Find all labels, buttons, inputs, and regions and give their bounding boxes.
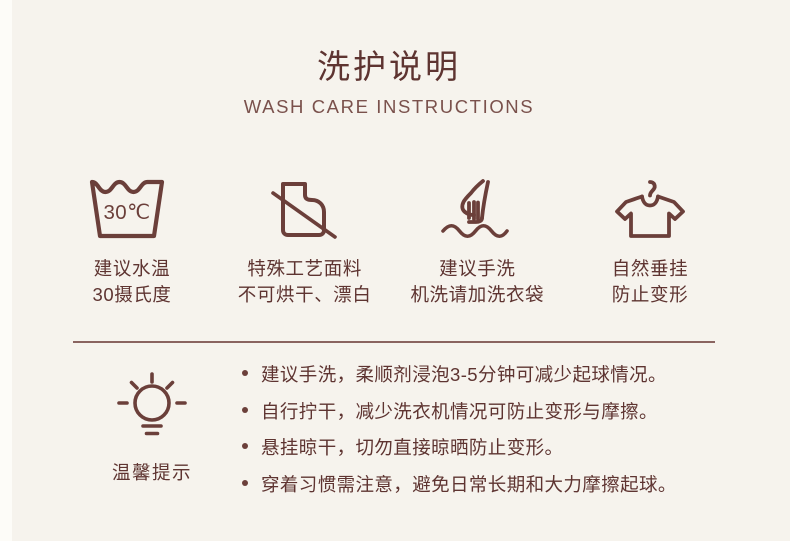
tips-header: 温馨提示 — [62, 366, 242, 485]
bullet-icon — [242, 370, 248, 376]
svg-text:30℃: 30℃ — [103, 201, 150, 224]
tip-text: 穿着习惯需注意，避免日常长期和大力摩擦起球。 — [261, 476, 677, 495]
page-header: 洗护说明 WASH CARE INSTRUCTIONS — [0, 46, 778, 118]
care-item-caption-line1: 特殊工艺面料 — [238, 256, 372, 282]
care-item-caption-line2: 防止变形 — [612, 282, 688, 308]
care-item-caption: 特殊工艺面料 不可烘干、漂白 — [238, 256, 372, 309]
page-title: 洗护说明 — [0, 46, 778, 87]
page-subtitle: WASH CARE INSTRUCTIONS — [0, 96, 778, 118]
hand-wash-icon — [431, 172, 523, 246]
list-item: 自行拧干，减少洗衣机情况可防止变形与摩擦。 — [242, 403, 677, 422]
tip-text: 建议手洗，柔顺剂浸泡3-5分钟可减少起球情况。 — [261, 366, 667, 385]
tips-section: 温馨提示 建议手洗，柔顺剂浸泡3-5分钟可减少起球情况。 自行拧干，减少洗衣机情… — [62, 366, 762, 512]
care-item-caption-line1: 建议手洗 — [410, 256, 544, 282]
tips-caption: 温馨提示 — [112, 459, 192, 485]
hang-dry-shirt-icon — [604, 172, 696, 246]
list-item: 建议手洗，柔顺剂浸泡3-5分钟可减少起球情况。 — [242, 366, 677, 385]
lightbulb-icon — [111, 370, 193, 447]
care-item-caption: 自然垂挂 防止变形 — [612, 256, 688, 309]
care-item-caption-line1: 自然垂挂 — [612, 256, 688, 282]
care-item-hang-dry: 自然垂挂 防止变形 — [564, 172, 736, 309]
care-item-caption: 建议水温 30摄氏度 — [92, 256, 171, 309]
care-item-no-tumble-dry-bleach: 特殊工艺面料 不可烘干、漂白 — [219, 172, 391, 309]
care-item-caption: 建议手洗 机洗请加洗衣袋 — [410, 256, 544, 309]
wash-tub-30c-icon: 30℃ — [86, 172, 178, 246]
section-divider — [73, 341, 715, 343]
list-item: 穿着习惯需注意，避免日常长期和大力摩擦起球。 — [242, 476, 677, 495]
list-item: 悬挂晾干，切勿直接晾晒防止变形。 — [242, 439, 677, 458]
wash-care-page: 洗护说明 WASH CARE INSTRUCTIONS 30℃ 建议水温 30摄… — [0, 0, 790, 541]
tips-list: 建议手洗，柔顺剂浸泡3-5分钟可减少起球情况。 自行拧干，减少洗衣机情况可防止变… — [242, 366, 677, 512]
bullet-icon — [242, 443, 248, 449]
bullet-icon — [242, 480, 248, 486]
no-tumble-dry-no-bleach-icon — [259, 172, 351, 246]
care-item-caption-line2: 不可烘干、漂白 — [238, 282, 372, 308]
care-item-caption-line1: 建议水温 — [92, 256, 171, 282]
care-item-caption-line2: 机洗请加洗衣袋 — [410, 282, 544, 308]
tip-text: 悬挂晾干，切勿直接晾晒防止变形。 — [261, 439, 563, 458]
care-item-caption-line2: 30摄氏度 — [92, 282, 171, 308]
care-icon-row: 30℃ 建议水温 30摄氏度 特殊工艺面料 不可烘干、漂白 — [46, 172, 736, 309]
bullet-icon — [242, 407, 248, 413]
care-item-hand-wash: 建议手洗 机洗请加洗衣袋 — [391, 172, 563, 309]
care-item-wash-temperature: 30℃ 建议水温 30摄氏度 — [46, 172, 218, 309]
tip-text: 自行拧干，减少洗衣机情况可防止变形与摩擦。 — [261, 403, 658, 422]
